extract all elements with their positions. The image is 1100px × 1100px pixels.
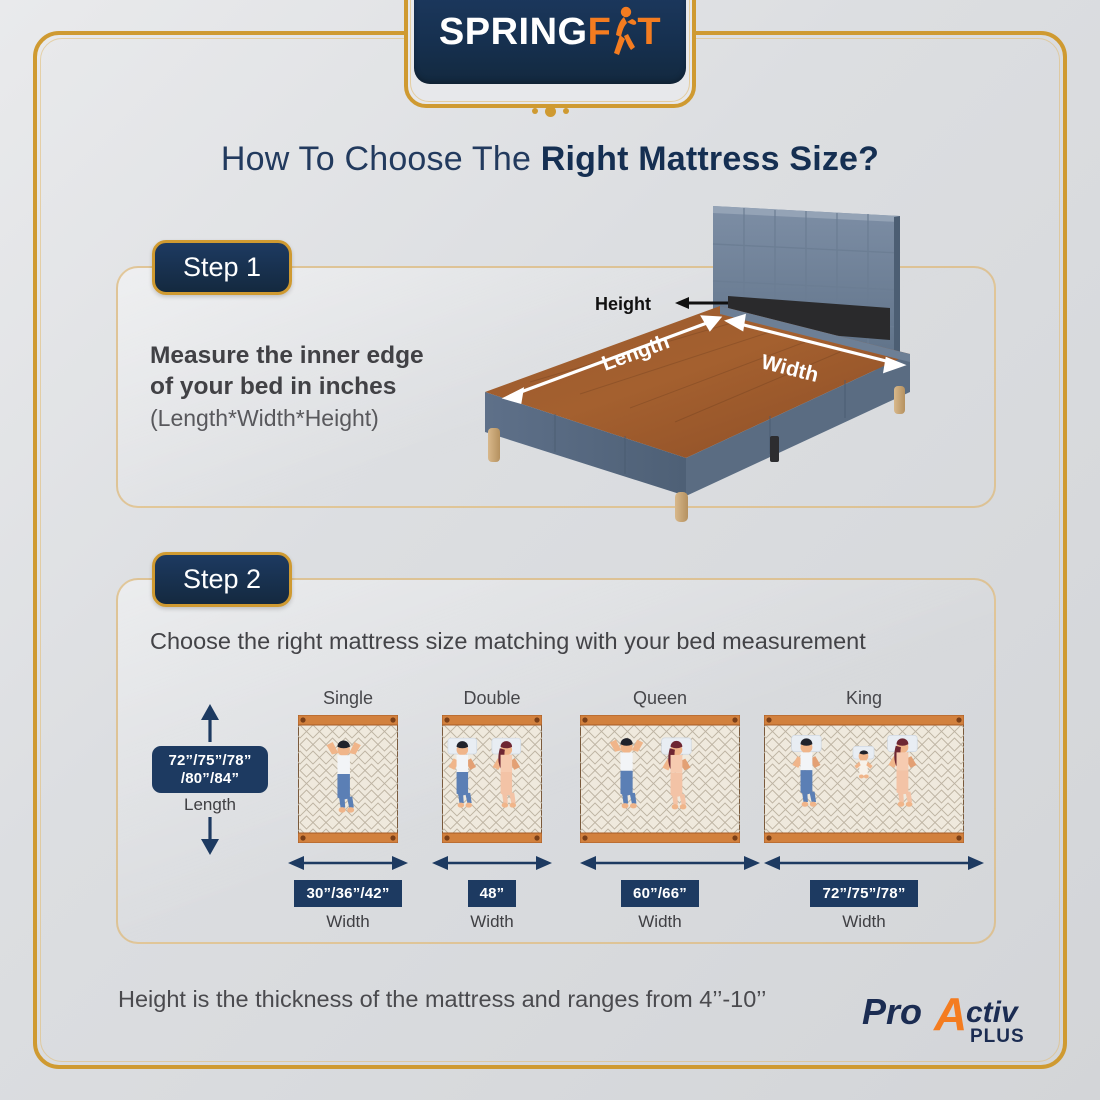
width-arrow-icon: [580, 853, 760, 873]
step1-line2: of your bed in inches: [150, 371, 480, 402]
mattress-size-name: King: [764, 688, 964, 709]
mattress-graphic: [298, 715, 398, 843]
mattress-graphic: [764, 715, 964, 843]
jumping-person-icon: [611, 11, 637, 53]
length-indicator: 72”/75”/78” /80”/84” Length: [150, 702, 270, 857]
bed-height-label: Height: [595, 294, 651, 314]
dot-small-left: [532, 108, 538, 114]
width-arrow-icon: [764, 853, 984, 873]
width-arrow-icon: [288, 853, 408, 873]
length-value-line1: 72”/75”/78”: [158, 752, 262, 770]
springfit-logo: SPRINGF T: [439, 11, 661, 53]
mattress-size-name: Single: [278, 688, 418, 709]
title-regular: How To Choose The: [221, 140, 531, 178]
bed-leg-center: [770, 436, 779, 462]
logo-plate: SPRINGF T: [414, 0, 686, 84]
length-arrow-up-icon: [196, 702, 224, 742]
step1-instruction: Measure the inner edge of your bed in in…: [150, 340, 480, 434]
length-arrow-down-icon: [196, 817, 224, 857]
title-bold: Right Mattress Size?: [541, 140, 879, 178]
mattress-width-value: 48”: [468, 880, 517, 907]
bed-leg-right: [894, 386, 905, 414]
mattress-graphic: [442, 715, 542, 843]
mattress-width-caption: Width: [580, 912, 740, 932]
brand-header: SPRINGF T: [404, 0, 696, 112]
proactiv-a-letter: A: [933, 988, 967, 1040]
mattress-column-double: Double48”Width: [422, 688, 562, 932]
logo-t-letter: T: [637, 13, 661, 51]
mattress-width-value: 30”/36”/42”: [294, 880, 401, 907]
logo-spring-text: SPRING: [439, 13, 588, 51]
step1-line3: (Length*Width*Height): [150, 404, 480, 434]
mattress-graphic: [580, 715, 740, 843]
proactiv-plus-text: PLUS: [970, 1026, 1025, 1046]
length-caption: Length: [150, 795, 270, 815]
mattress-column-queen: Queen60”/66”Width: [580, 688, 740, 932]
logo-f-letter: F: [588, 13, 612, 51]
mattress-width-value: 72”/75”/78”: [810, 880, 917, 907]
mattress-width-caption: Width: [764, 912, 964, 932]
decorative-dots: [404, 104, 696, 118]
step1-badge: Step 1: [152, 240, 292, 295]
bed-leg-left: [488, 428, 500, 462]
proactiv-pro-text: Pro: [862, 991, 922, 1032]
mattress-size-name: Queen: [580, 688, 740, 709]
step2-instruction: Choose the right mattress size matching …: [150, 626, 890, 657]
step1-line1: Measure the inner edge: [150, 340, 480, 371]
mattress-column-king: King72”/75”/78”Width: [764, 688, 964, 932]
bed-illustration: Length Width Height: [470, 196, 970, 526]
dot-large-center: [545, 106, 556, 117]
proactiv-ctiv-text: ctiv: [966, 996, 1020, 1029]
infographic-page: SPRINGF T How To Choose The Right Mattre…: [0, 0, 1100, 1100]
bed-leg-front: [675, 492, 688, 522]
step2-badge: Step 2: [152, 552, 292, 607]
footer-note: Height is the thickness of the mattress …: [118, 986, 766, 1013]
mattress-width-value: 60”/66”: [621, 880, 699, 907]
width-arrow-icon: [432, 853, 552, 873]
mattress-column-single: Single30”/36”/42”Width: [278, 688, 418, 932]
mattress-width-caption: Width: [422, 912, 562, 932]
page-title: How To Choose The Right Mattress Size?: [0, 140, 1100, 179]
mattress-size-comparison: 72”/75”/78” /80”/84” Length Single30”/36…: [150, 688, 950, 938]
proactiv-plus-logo: Pro A ctiv PLUS: [862, 984, 1042, 1046]
mattress-width-caption: Width: [278, 912, 418, 932]
mattress-size-name: Double: [422, 688, 562, 709]
dot-small-right: [563, 108, 569, 114]
length-value-box: 72”/75”/78” /80”/84”: [152, 746, 268, 793]
length-value-line2: /80”/84”: [158, 770, 262, 788]
